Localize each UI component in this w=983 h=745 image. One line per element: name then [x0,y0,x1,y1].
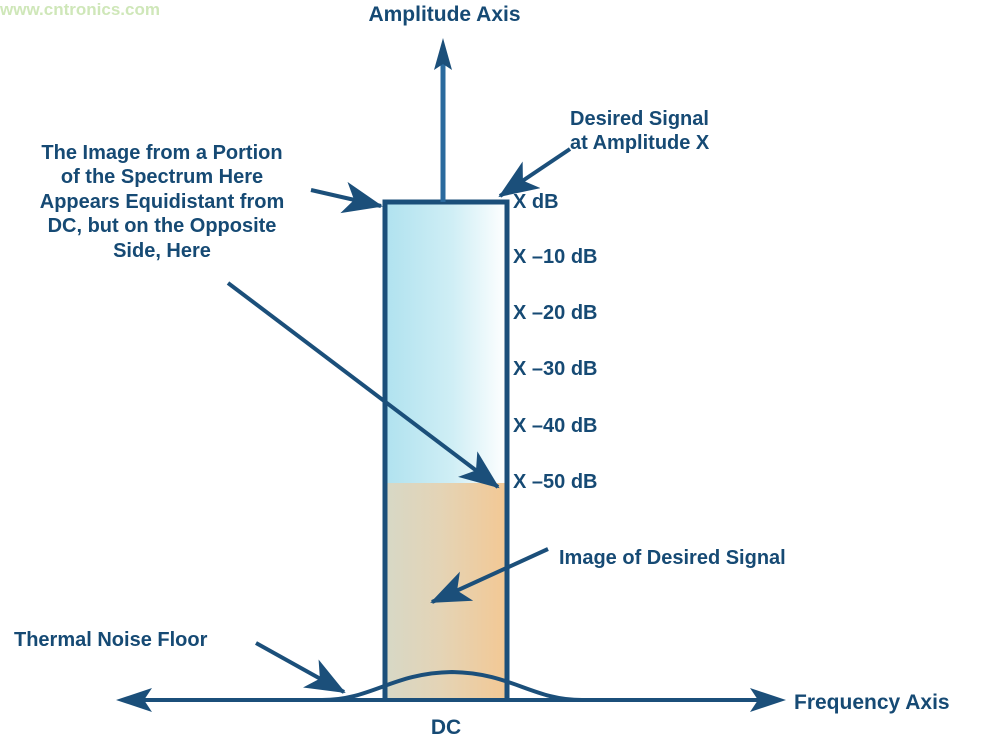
amplitude-tick-3: X –30 dB [513,358,597,381]
image-portion-annotation: The Image from a Portion of the Spectrum… [6,141,318,263]
thermal-noise-floor-annotation: Thermal Noise Floor [14,628,207,652]
amplitude-axis-title-text: Amplitude Axis [368,2,520,28]
amplitude-tick-2: X –20 dB [513,302,597,325]
desired-signal-leader [500,149,570,196]
amplitude-tick-5: X –50 dB [513,471,597,494]
frequency-axis-title: Frequency Axis [794,690,950,716]
image-portion-leader-top [311,190,381,206]
image-of-desired-signal-annotation: Image of Desired Signal [559,546,786,570]
thermal-noise-floor-leader [256,643,344,692]
amplitude-axis-title: Amplitude Axis [0,2,983,28]
image-signal-region [385,483,507,700]
dc-origin-label: DC [396,715,496,741]
desired-signal-annotation: Desired Signal at Amplitude X [570,107,709,156]
amplitude-tick-1: X –10 dB [513,246,597,269]
desired-signal-region [385,202,507,483]
spectrum-diagram: Amplitude Axis Frequency Axis www.cntron… [0,0,983,745]
amplitude-tick-0: X dB [513,191,559,214]
amplitude-tick-4: X –40 dB [513,415,597,438]
